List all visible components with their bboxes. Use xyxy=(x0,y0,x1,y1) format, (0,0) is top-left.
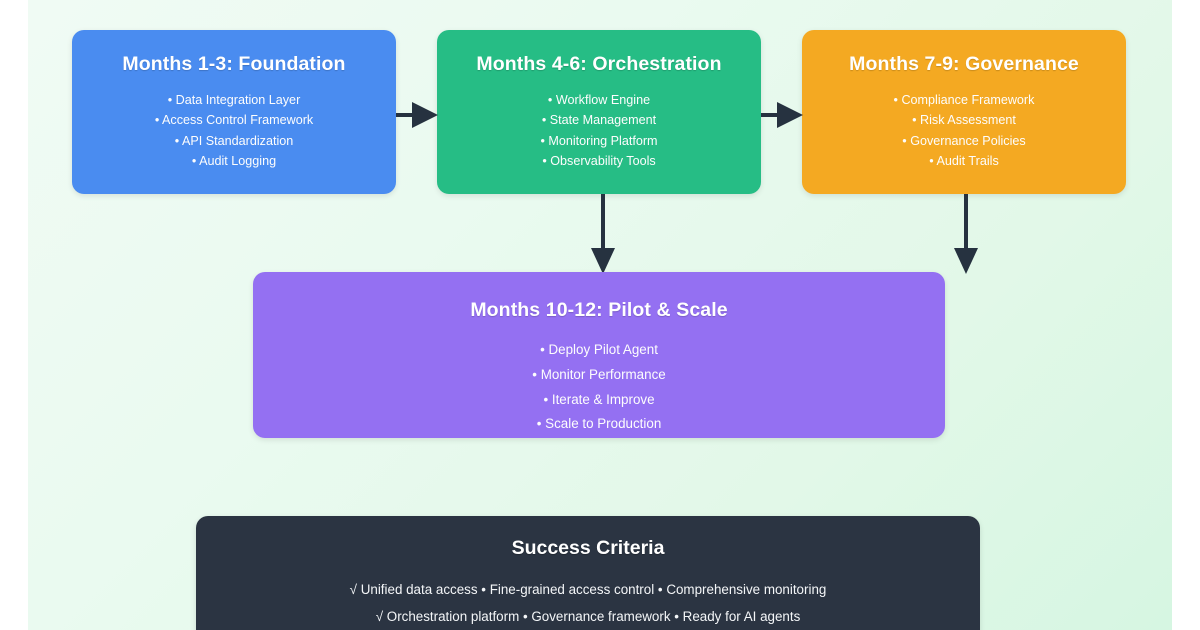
phase-item-list-orchestration: • Workflow Engine • State Management • M… xyxy=(437,90,761,172)
phase-item-list-governance: • Compliance Framework • Risk Assessment… xyxy=(802,90,1126,172)
phase-item: • Access Control Framework xyxy=(72,110,396,130)
success-criteria-line: √ Orchestration platform • Governance fr… xyxy=(196,603,980,630)
success-criteria-line: √ Unified data access • Fine-grained acc… xyxy=(196,576,980,603)
phase-item-list-pilot-scale: • Deploy Pilot Agent • Monitor Performan… xyxy=(253,338,945,437)
phase-title-orchestration: Months 4-6: Orchestration xyxy=(437,52,761,76)
arrow-down-orchestration-to-pilot xyxy=(587,194,619,276)
phase-card-foundation[interactable]: Months 1-3: Foundation • Data Integratio… xyxy=(72,30,396,194)
phase-item: • Audit Trails xyxy=(802,151,1126,171)
diagram-stage: Months 1-3: Foundation • Data Integratio… xyxy=(28,0,1172,630)
phase-item-list-foundation: • Data Integration Layer • Access Contro… xyxy=(72,90,396,172)
phase-item: • API Standardization xyxy=(72,131,396,151)
success-criteria-panel: Success Criteria √ Unified data access •… xyxy=(196,516,980,630)
phase-item: • Observability Tools xyxy=(437,151,761,171)
phase-item: • Iterate & Improve xyxy=(253,388,945,413)
phase-item: • Data Integration Layer xyxy=(72,90,396,110)
phase-item: • Governance Policies xyxy=(802,131,1126,151)
phase-title-governance: Months 7-9: Governance xyxy=(802,52,1126,76)
phase-item: • Scale to Production xyxy=(253,412,945,437)
phase-card-orchestration[interactable]: Months 4-6: Orchestration • Workflow Eng… xyxy=(437,30,761,194)
success-criteria-title: Success Criteria xyxy=(196,536,980,560)
phase-card-governance[interactable]: Months 7-9: Governance • Compliance Fram… xyxy=(802,30,1126,194)
phase-item: • State Management xyxy=(437,110,761,130)
phase-item: • Deploy Pilot Agent xyxy=(253,338,945,363)
arrow-right-orchestration-to-governance xyxy=(761,98,805,132)
success-criteria-list: √ Unified data access • Fine-grained acc… xyxy=(196,576,980,630)
phase-title-pilot-scale: Months 10-12: Pilot & Scale xyxy=(253,298,945,322)
phase-item: • Audit Logging xyxy=(72,151,396,171)
phase-card-pilot-scale[interactable]: Months 10-12: Pilot & Scale • Deploy Pil… xyxy=(253,272,945,438)
arrow-down-governance-to-pilot xyxy=(950,194,982,276)
phase-title-foundation: Months 1-3: Foundation xyxy=(72,52,396,76)
phase-item: • Workflow Engine xyxy=(437,90,761,110)
arrow-right-foundation-to-orchestration xyxy=(396,98,440,132)
phase-item: • Compliance Framework xyxy=(802,90,1126,110)
phase-item: • Monitor Performance xyxy=(253,363,945,388)
diagram-canvas: Months 1-3: Foundation • Data Integratio… xyxy=(0,0,1200,630)
phase-item: • Risk Assessment xyxy=(802,110,1126,130)
phase-item: • Monitoring Platform xyxy=(437,131,761,151)
